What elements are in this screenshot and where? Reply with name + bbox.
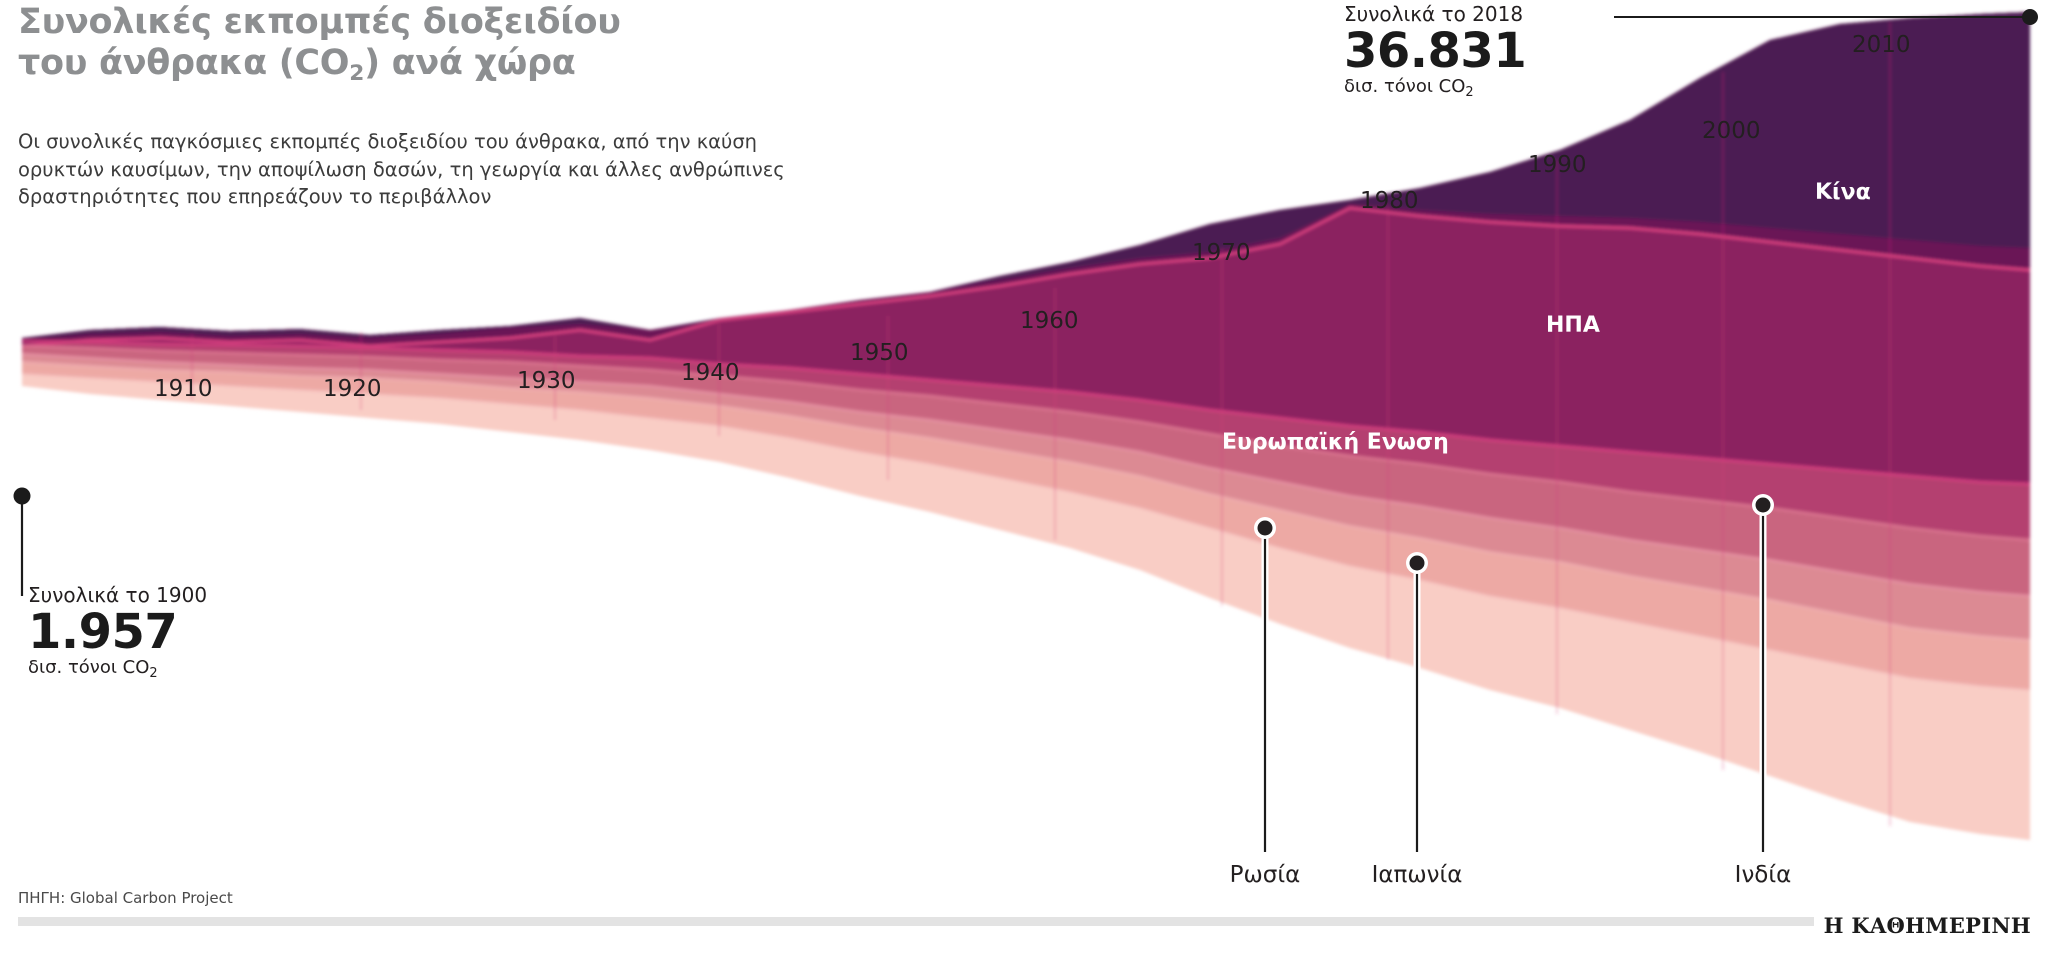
total-1900-unit-sub: 2 [149,666,157,681]
publisher-logo: Η ΚΑΘΗΜΕΡΙΝΗ [1814,913,2031,938]
infographic-root: Συνολικές εκπομπές διοξειδίου του άνθρακ… [0,0,2047,954]
total-2018-unit-text: δισ. τόνοι CO [1344,76,1465,97]
page-subtitle: Οι συνολικές παγκόσμιες εκπομπές διοξειδ… [18,128,848,211]
start-total-leader [14,488,31,597]
stream-label-usa: ΗΠΑ [1546,313,1600,338]
title-line-2-b: ) ανά χώρα [364,43,575,83]
year-label-2010: 2010 [1852,32,1911,58]
total-1900-value: 1.957 [28,607,288,657]
title-line-2: του άνθρακα (CO2) ανά χώρα [18,43,798,84]
year-label-1950: 1950 [850,340,909,366]
stream-label-china: Κίνα [1815,180,1871,205]
year-label-1990: 1990 [1528,152,1587,178]
year-label-1910: 1910 [154,376,213,402]
year-label-1920: 1920 [323,376,382,402]
total-2018-annotation: Συνολικά το 2018 36.831 δισ. τόνοι CO2 [1344,2,1604,99]
total-2018-unit: δισ. τόνοι CO2 [1344,76,1604,99]
source-note: ΠΗΓΗ: Global Carbon Project [18,889,233,907]
year-label-1980: 1980 [1360,188,1419,214]
total-1900-unit-text: δισ. τόνοι CO [28,657,149,678]
callout-label-india: Ινδία [1735,862,1792,888]
total-1900-annotation: Συνολικά το 1900 1.957 δισ. τόνοι CO2 [28,583,288,680]
stream-label-eu: Ευρωπαϊκή Ενωση [1222,430,1449,455]
year-label-1930: 1930 [517,368,576,394]
total-2018-value: 36.831 [1344,26,1604,76]
year-label-2000: 2000 [1702,118,1761,144]
total-2018-unit-sub: 2 [1465,85,1473,100]
footer-divider-bar [18,917,2029,926]
year-label-1970: 1970 [1192,240,1251,266]
page-title: Συνολικές εκπομπές διοξειδίου του άνθρακ… [18,2,798,85]
callout-label-japan: Ιαπωνία [1372,862,1463,888]
title-line-1: Συνολικές εκπομπές διοξειδίου [18,2,798,43]
year-label-1940: 1940 [681,360,740,386]
year-label-1960: 1960 [1020,308,1079,334]
title-line-2-a: του άνθρακα (CO [18,43,349,83]
co2-subscript: 2 [349,61,364,86]
callout-label-russia: Ρωσία [1230,862,1301,888]
total-1900-unit: δισ. τόνοι CO2 [28,657,288,680]
